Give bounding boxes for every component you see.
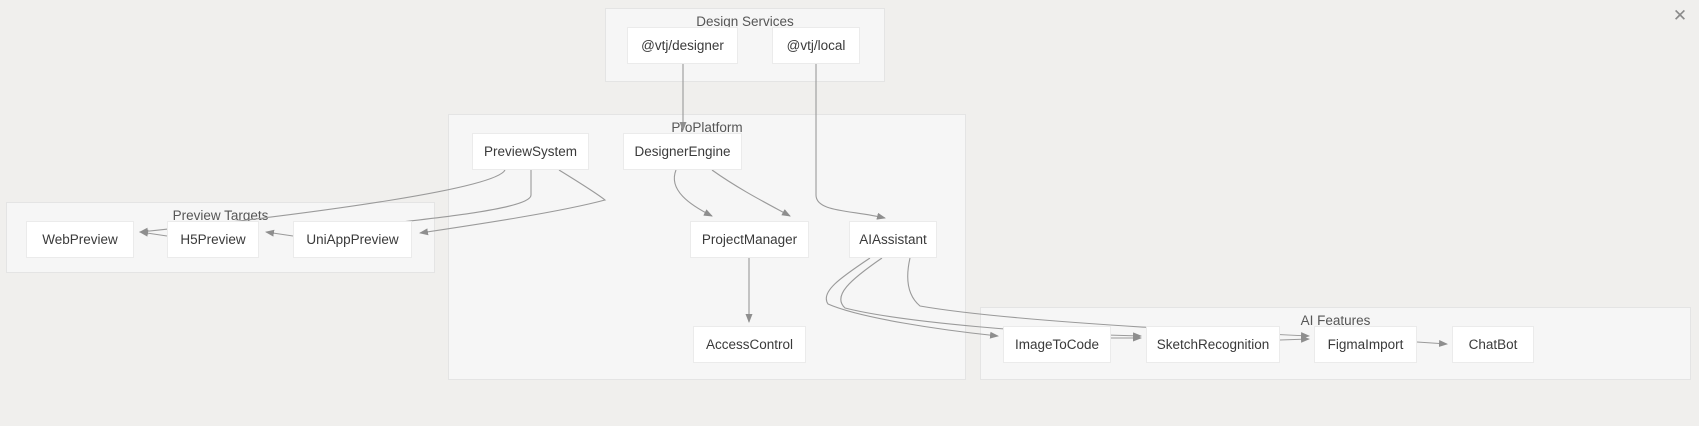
- node-label: H5Preview: [180, 232, 245, 247]
- node-vtj-designer[interactable]: @vtj/designer: [627, 27, 738, 64]
- node-label: ProjectManager: [702, 232, 797, 247]
- node-label: ChatBot: [1469, 337, 1518, 352]
- node-access-control[interactable]: AccessControl: [693, 326, 806, 363]
- node-designer-engine[interactable]: DesignerEngine: [623, 133, 742, 170]
- node-label: PreviewSystem: [484, 144, 577, 159]
- node-label: AccessControl: [706, 337, 793, 352]
- node-figma-import[interactable]: FigmaImport: [1314, 326, 1417, 363]
- node-ai-assistant[interactable]: AIAssistant: [849, 221, 937, 258]
- diagram-canvas: Design Services ProPlatform Preview Targ…: [0, 0, 1699, 426]
- node-label: @vtj/local: [787, 38, 846, 53]
- node-label: SketchRecognition: [1157, 337, 1270, 352]
- node-vtj-local[interactable]: @vtj/local: [772, 27, 860, 64]
- node-preview-system[interactable]: PreviewSystem: [472, 133, 589, 170]
- node-uniapp-preview[interactable]: UniAppPreview: [293, 221, 412, 258]
- node-label: AIAssistant: [859, 232, 927, 247]
- node-label: FigmaImport: [1328, 337, 1404, 352]
- node-h5-preview[interactable]: H5Preview: [167, 221, 259, 258]
- node-label: WebPreview: [42, 232, 118, 247]
- node-label: DesignerEngine: [634, 144, 730, 159]
- node-sketch-recognition[interactable]: SketchRecognition: [1146, 326, 1280, 363]
- node-project-manager[interactable]: ProjectManager: [690, 221, 809, 258]
- close-icon[interactable]: ✕: [1669, 5, 1691, 27]
- node-label: @vtj/designer: [641, 38, 724, 53]
- node-label: UniAppPreview: [306, 232, 398, 247]
- node-chat-bot[interactable]: ChatBot: [1452, 326, 1534, 363]
- node-web-preview[interactable]: WebPreview: [26, 221, 134, 258]
- node-label: ImageToCode: [1015, 337, 1099, 352]
- node-image-to-code[interactable]: ImageToCode: [1003, 326, 1111, 363]
